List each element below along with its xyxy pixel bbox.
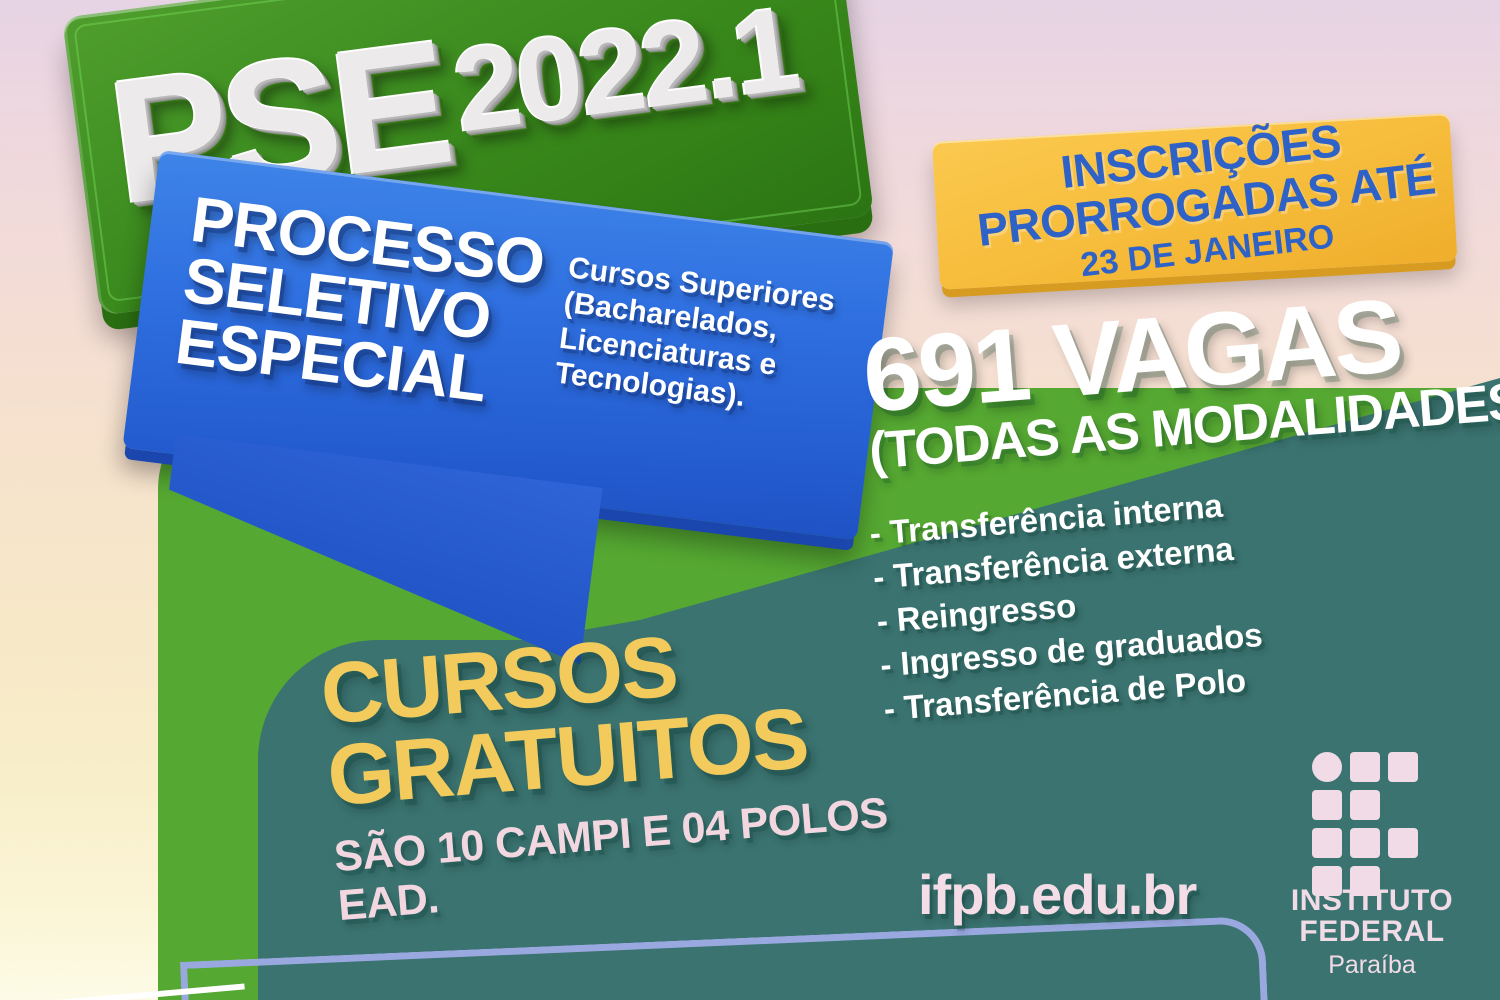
deadline-banner: INSCRIÇÕES PRORROGADAS ATÉ 23 DE JANEIRO: [932, 113, 1457, 290]
instituto-federal-mark-icon: [1312, 752, 1432, 872]
modalities-list: - Transferência interna - Transferência …: [868, 470, 1404, 730]
free-courses-block: CURSOSGRATUITOS SÃO 10 CAMPI E 04 POLOS …: [318, 605, 958, 930]
logo-institute-line2: FEDERAL: [1299, 915, 1444, 948]
ribbon-title: PROCESSOSELETIVOESPECIAL: [172, 189, 547, 416]
logo-state-name: Paraíba: [1272, 951, 1472, 980]
pse-year: 2022.1: [446, 0, 803, 157]
website-url[interactable]: ifpb.edu.br: [918, 862, 1196, 927]
ifpb-logo: INSTITUTOFEDERAL Paraíba: [1272, 752, 1472, 980]
poster-canvas: PSE2022.1 PROCESSOSELETIVOESPECIAL Curso…: [0, 0, 1500, 1000]
